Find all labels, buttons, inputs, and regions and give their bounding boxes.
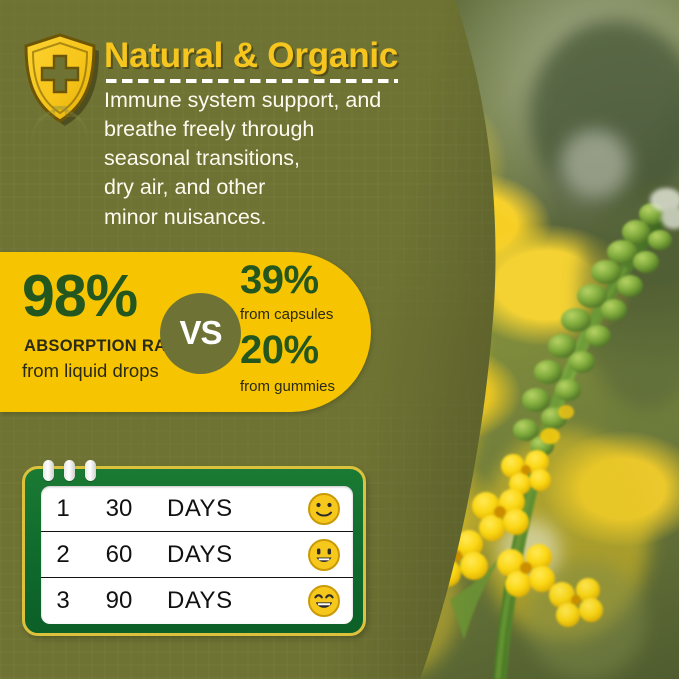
usage-schedule-card: 1 30 DAYS 2 60 DAYS [22,466,366,636]
row-days-unit: DAYS [153,541,295,569]
table-row: 3 90 DAYS [41,578,353,624]
absorption-comparison-panel: 98% ABSORPTION RATE from liquid drops VS… [0,252,371,412]
row-days-value: 30 [85,495,153,523]
primary-absorption-sublabel: from liquid drops [22,360,159,382]
subtitle-line: Immune system support, and [104,86,404,115]
product-infographic: Natural & Organic Immune system support,… [0,0,679,679]
subtitle-line: seasonal transitions, [104,144,404,173]
alternative-value-gummies: 20% [240,328,319,373]
row-index: 3 [41,587,85,615]
table-row: 2 60 DAYS [41,532,353,578]
schedule-table: 1 30 DAYS 2 60 DAYS [41,486,353,624]
slight-smile-face-icon [295,492,353,526]
beaming-face-icon [295,584,353,618]
primary-absorption-value: 98% [22,262,137,330]
vs-label: VS [179,314,221,352]
row-days-unit: DAYS [153,587,295,615]
shield-plus-icon [18,30,102,162]
alternative-label-capsules: from capsules [240,306,333,323]
subtitle-line: breathe freely through [104,115,404,144]
alternative-value-capsules: 39% [240,258,319,303]
row-days-unit: DAYS [153,495,295,523]
page-title: Natural & Organic [104,36,398,76]
table-row: 1 30 DAYS [41,486,353,532]
subtitle-line: minor nuisances. [104,203,404,232]
vs-badge: VS [160,293,241,374]
row-days-value: 60 [85,541,153,569]
binding-ring [43,460,54,481]
grinning-face-icon [295,538,353,572]
row-days-value: 90 [85,587,153,615]
binding-ring [64,460,75,481]
row-index: 2 [41,541,85,569]
header-subtitle: Immune system support, and breathe freel… [104,86,404,232]
row-index: 1 [41,495,85,523]
spiral-binding [43,460,133,480]
dashed-divider [106,79,398,83]
binding-ring [85,460,96,481]
alternative-label-gummies: from gummies [240,378,335,395]
subtitle-line: dry air, and other [104,173,404,202]
